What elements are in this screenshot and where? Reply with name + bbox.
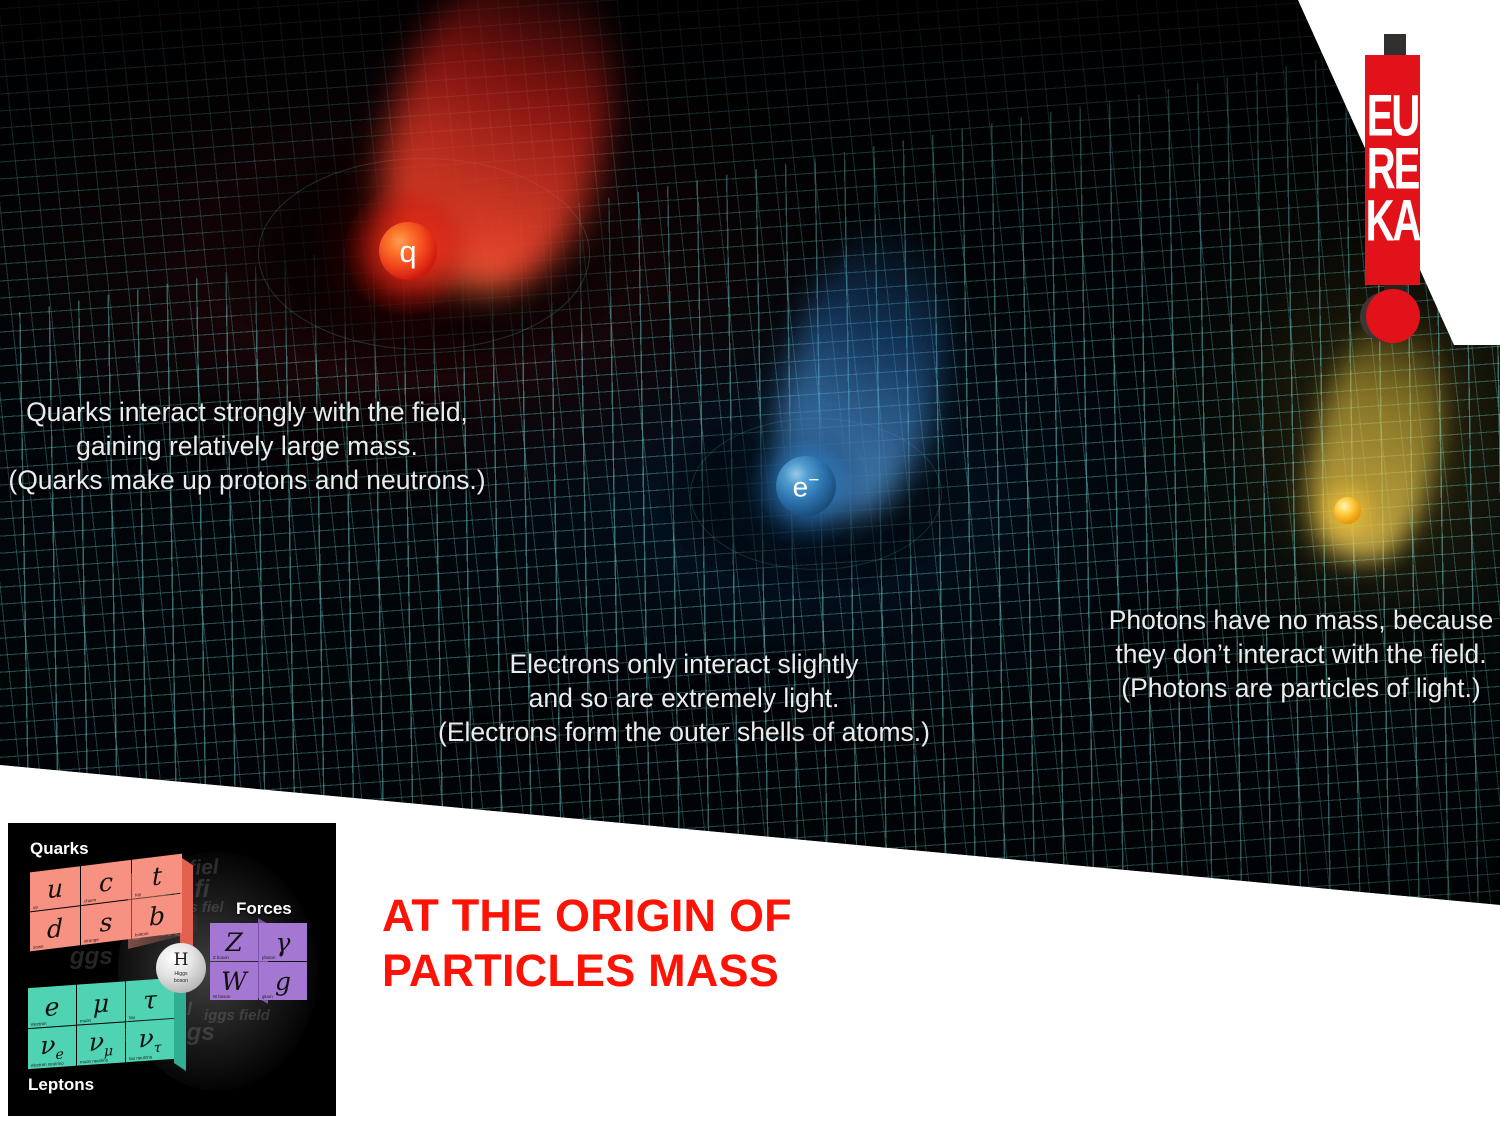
higgs-label: Higgs boson [174, 971, 188, 983]
standard-model-thumbnail[interactable]: gs fiel iggs fi Higgs fiel gs fiel ggs f… [8, 823, 336, 1116]
lepton-name: electron neutrino [31, 1061, 64, 1068]
quark-name: strange [84, 937, 99, 944]
lepton-symbol: e [45, 993, 60, 1019]
slide-root: q e− s field Quarks interact strongly wi… [0, 0, 1500, 1125]
eureka-logo[interactable]: EU RE KA [1288, 0, 1500, 345]
quark-name: down [33, 944, 44, 950]
quark-symbol: u [47, 875, 63, 902]
quark-symbol: d [47, 915, 63, 942]
quark-symbol: q [399, 236, 416, 267]
force-cell: ggluon [259, 962, 307, 1000]
lepton-cell: ντtau neutrino [126, 1019, 174, 1062]
force-name: W boson [213, 994, 230, 999]
group-label-leptons: Leptons [28, 1075, 94, 1095]
logo-dot-icon [1366, 289, 1420, 343]
force-cube-grid: ZZ boson γphoton WW boson ggluon [210, 923, 307, 1000]
logo-line-1: EU [1367, 89, 1419, 145]
logo-wordmark: EU RE KA [1365, 55, 1420, 285]
quark-name: charm [84, 897, 96, 903]
quark-cell: ccharm [81, 860, 131, 905]
caption-electron: Electrons only interact slightly and so … [404, 648, 964, 750]
caption-photon: Photons have no mass, because they don’t… [1095, 604, 1500, 706]
force-symbol: g [275, 969, 291, 994]
lepton-cell: νμmuon neutrino [77, 1022, 125, 1065]
force-cell: ZZ boson [210, 923, 258, 961]
group-label-quarks: Quarks [30, 839, 89, 859]
quark-symbol: c [99, 869, 113, 896]
quark-name: bottom [135, 931, 148, 938]
lepton-name: tau neutrino [129, 1054, 152, 1061]
quark-symbol: b [149, 903, 165, 930]
force-name: Z boson [213, 955, 229, 960]
logo-line-3: KA [1366, 195, 1420, 251]
quark-cell: bbottom [132, 894, 182, 939]
lepton-name: muon [80, 1018, 91, 1024]
lepton-symbol: τ [143, 987, 157, 1013]
photon-particle [1334, 497, 1361, 524]
force-cell: γphoton [259, 923, 307, 961]
lepton-cube-grid: eelectron μmuon τtau νeelectron neutrino… [28, 978, 174, 1069]
electron-particle: e− [776, 456, 836, 516]
lepton-symbol: νμ [89, 1028, 113, 1060]
force-symbol: γ [276, 930, 291, 955]
fog-word: iggs field [204, 1007, 270, 1024]
quark-name: up [33, 904, 38, 910]
lepton-name: muon neutrino [80, 1058, 108, 1065]
electron-symbol: e− [793, 471, 820, 501]
lepton-name: tau [129, 1015, 135, 1020]
page-title: AT THE ORIGIN OF PARTICLES MASS [382, 889, 792, 999]
quark-cell: sstrange [81, 900, 131, 945]
force-name: gluon [262, 994, 273, 999]
higgs-boson-sphere: H Higgs boson [156, 943, 206, 993]
caption-quark: Quarks interact strongly with the field,… [0, 396, 502, 498]
lepton-symbol: ντ [139, 1025, 162, 1057]
group-label-forces: Forces [236, 899, 292, 919]
quark-cell: ddown [30, 906, 80, 951]
lepton-symbol: μ [93, 990, 109, 1016]
lepton-symbol: νe [40, 1032, 64, 1064]
quark-symbol: t [152, 863, 162, 889]
quark-symbol: s [100, 909, 113, 936]
quark-cell: uup [30, 866, 80, 911]
force-name: photon [262, 955, 275, 960]
higgs-symbol: H [174, 952, 189, 969]
quark-particle: q [379, 222, 437, 280]
quark-name: top [135, 892, 141, 898]
fog-word: ggs [70, 943, 113, 971]
quark-cell: ttop [132, 854, 182, 899]
force-symbol: Z [225, 930, 242, 955]
lepton-cell: νeelectron neutrino [28, 1026, 76, 1069]
force-cell: WW boson [210, 962, 258, 1000]
lepton-name: electron [31, 1021, 47, 1027]
lepton-cell: eelectron [28, 985, 76, 1028]
lepton-cell: μmuon [77, 981, 125, 1024]
force-symbol: W [221, 969, 247, 994]
